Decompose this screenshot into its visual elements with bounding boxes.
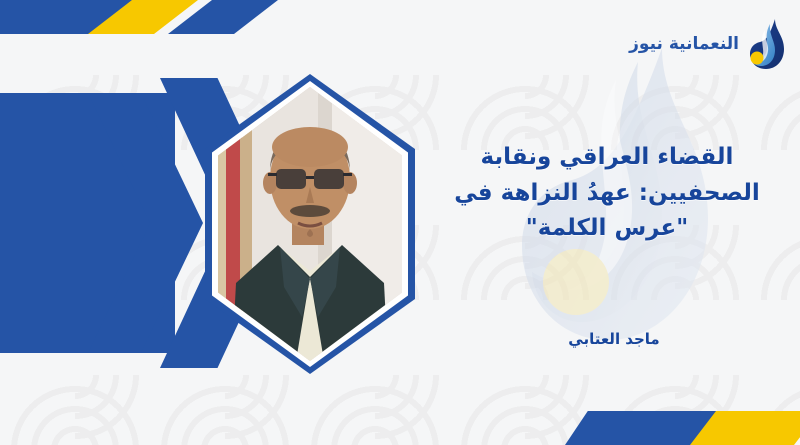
headline: القضاء العراقي ونقابة الصحفيين: عهدُ الن… bbox=[442, 140, 772, 247]
byline-author: ماجد العتابي bbox=[464, 330, 764, 348]
headline-line-3: "عرس الكلمة" bbox=[442, 211, 772, 247]
flame-droplet-icon bbox=[748, 18, 786, 70]
headline-line-1: القضاء العراقي ونقابة bbox=[442, 140, 772, 176]
news-thumbnail-card: النعمانية نيوز القضاء العراقي ونقابة الص… bbox=[0, 0, 800, 445]
headline-line-2: الصحفيين: عهدُ النزاهة في bbox=[442, 176, 772, 212]
brand-name: النعمانية نيوز bbox=[629, 34, 739, 54]
portrait-hexagon-frame bbox=[205, 74, 415, 374]
brand-logo[interactable]: النعمانية نيوز bbox=[629, 18, 786, 70]
